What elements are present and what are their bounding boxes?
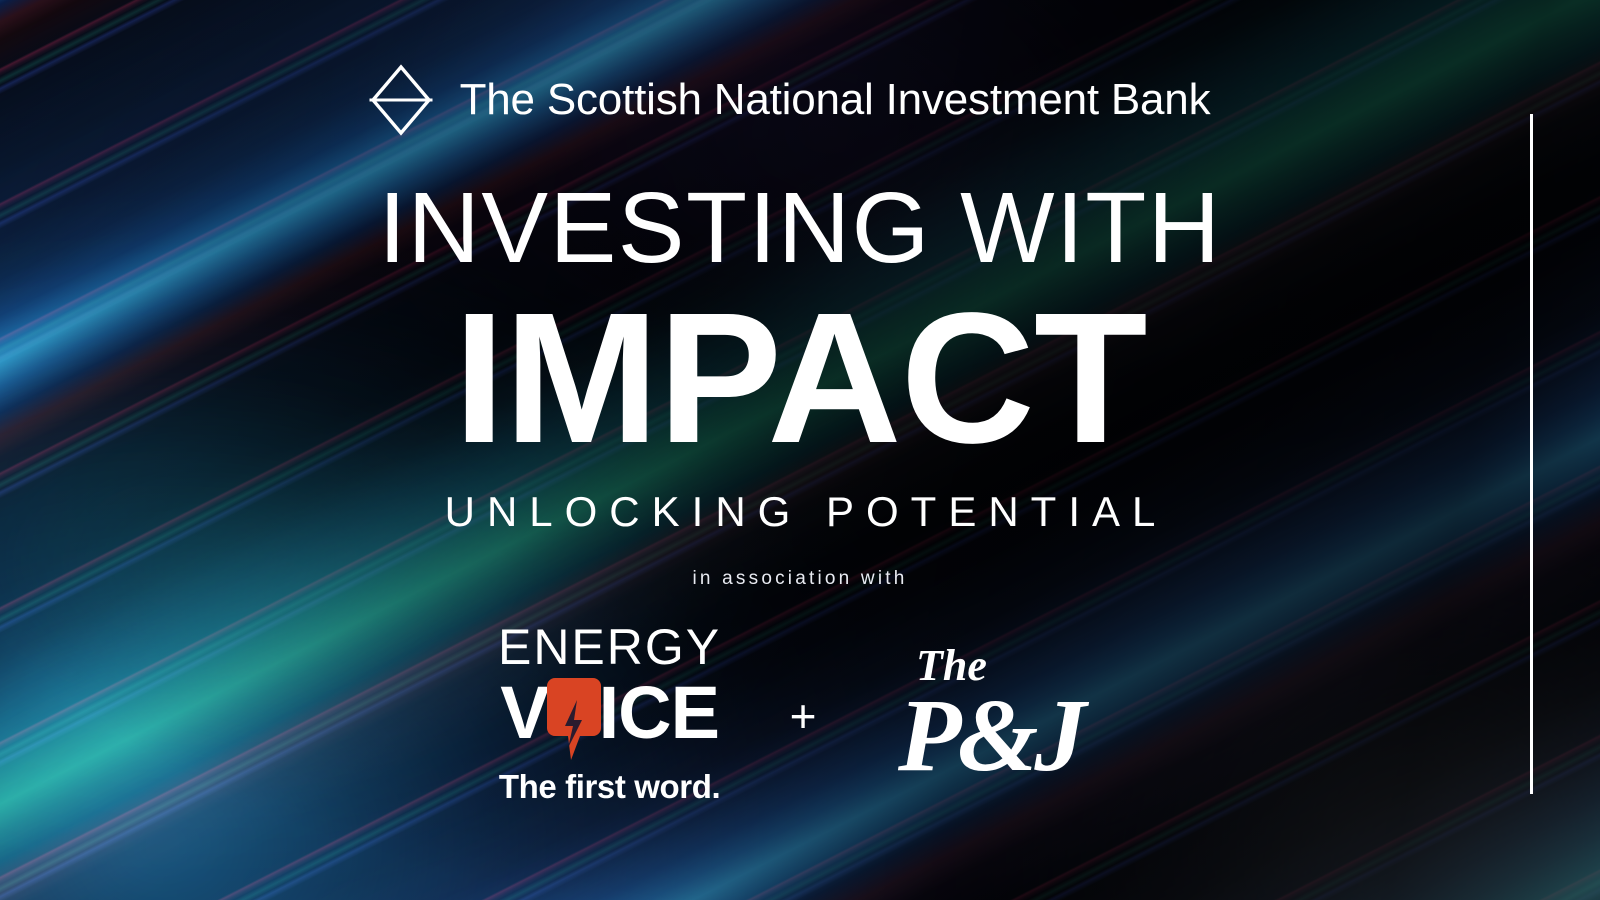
right-vertical-rule [1530,114,1533,794]
bank-name: The Scottish National Investment Bank [460,78,1211,122]
headline-line-2: IMPACT [453,290,1146,469]
energy-voice-tagline: The first word. [499,770,720,803]
partner-logo-row: ENERGY V ICE The first word. + The P&J [492,622,1109,803]
energy-voice-letter-v: V [500,676,548,750]
energy-voice-logo[interactable]: ENERGY V ICE The first word. [492,622,728,803]
energy-voice-word-voice: V ICE [500,676,719,762]
energy-voice-word-energy: ENERGY [498,622,721,672]
press-and-journal-logo[interactable]: The P&J [878,632,1108,792]
energy-voice-letters-ice: ICE [599,676,719,750]
press-and-journal-blackletter-mark: The P&J [878,632,1108,792]
poster-content: The Scottish National Investment Bank IN… [0,0,1600,900]
bank-lockup: The Scottish National Investment Bank [368,62,1211,138]
poster-canvas: The Scottish National Investment Bank IN… [0,0,1600,900]
headline-line-1: INVESTING WITH [378,178,1221,278]
association-label: in association with [693,569,908,588]
plus-separator-icon: + [790,693,817,739]
headline-line-3: UNLOCKING POTENTIAL [433,491,1168,533]
diamond-bisected-icon [368,62,434,138]
speech-bubble-lightning-icon [547,676,601,762]
pj-mark-text: P&J [897,678,1089,792]
